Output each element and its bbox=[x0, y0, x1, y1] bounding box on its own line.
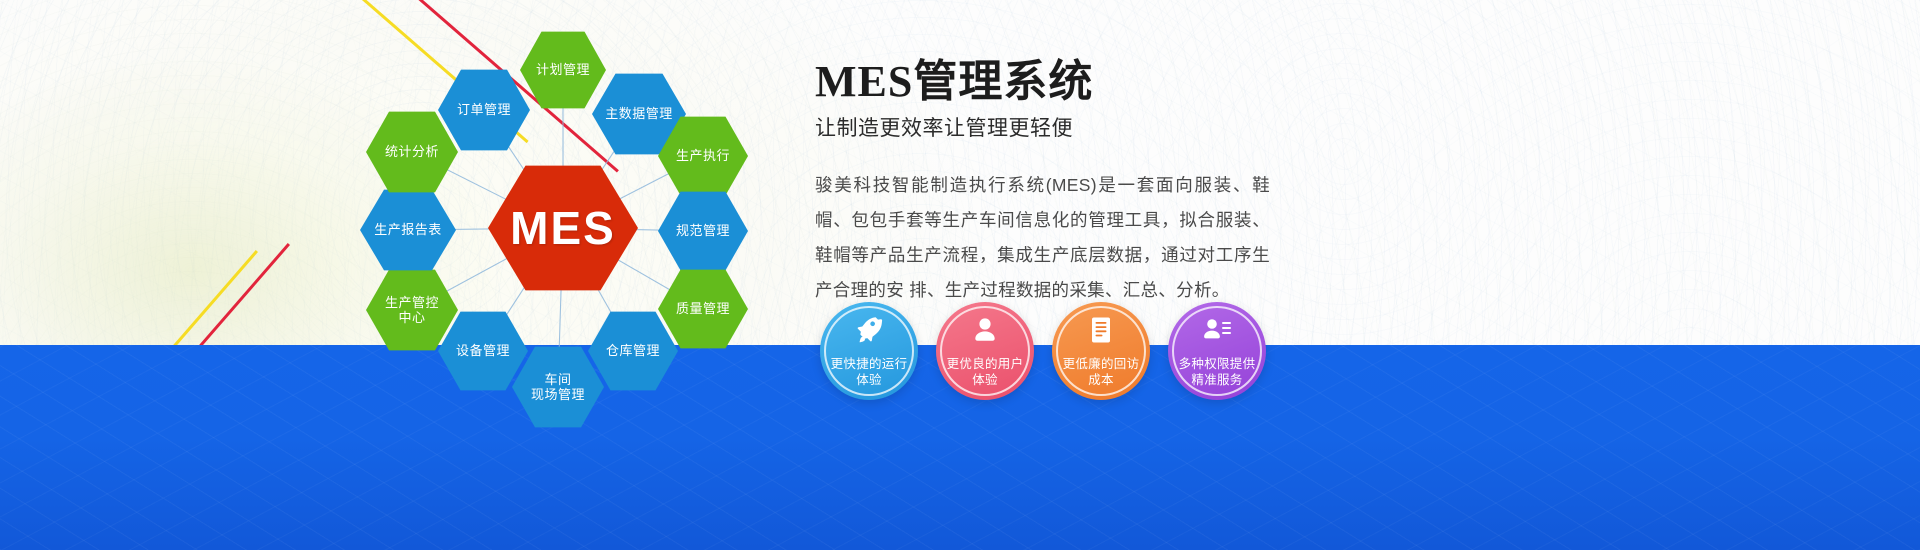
hex-center-label: MES bbox=[506, 201, 620, 255]
document-icon bbox=[1085, 314, 1117, 346]
feature-badges: 更快捷的运行体验更优良的用户体验更低廉的回访成本多种权限提供精准服务 bbox=[820, 302, 1266, 400]
mes-banner: MES 计划管理主数据管理生产执行规范管理质量管理仓库管理车间现场管理设备管理生… bbox=[0, 0, 1920, 550]
badge-label: 更快捷的运行体验 bbox=[820, 356, 918, 401]
badge-label: 更低廉的回访成本 bbox=[1052, 356, 1150, 401]
hexagon-diagram: MES 计划管理主数据管理生产执行规范管理质量管理仓库管理车间现场管理设备管理生… bbox=[330, 0, 800, 460]
page-description: 骏美科技智能制造执行系统(MES)是一套面向服装、鞋帽、包包手套等生产车间信息化… bbox=[815, 168, 1270, 308]
hex-node-label: 主数据管理 bbox=[601, 106, 677, 121]
badge-label: 更优良的用户体验 bbox=[936, 356, 1034, 401]
hex-node-label: 质量管理 bbox=[672, 301, 734, 316]
hex-node-label: 车间现场管理 bbox=[527, 372, 589, 403]
hex-node-label: 规范管理 bbox=[672, 223, 734, 238]
feature-badge[interactable]: 更快捷的运行体验 bbox=[820, 302, 918, 400]
badge-label: 多种权限提供精准服务 bbox=[1168, 356, 1266, 401]
hex-node-label: 仓库管理 bbox=[602, 343, 664, 358]
hex-node-label: 生产报告表 bbox=[370, 222, 446, 237]
hex-node-label: 设备管理 bbox=[452, 343, 514, 358]
hex-node-label: 统计分析 bbox=[381, 144, 443, 159]
user-icon bbox=[969, 314, 1001, 346]
feature-badge[interactable]: 更低廉的回访成本 bbox=[1052, 302, 1150, 400]
hex-node-label: 订单管理 bbox=[453, 102, 515, 117]
user-list-icon bbox=[1201, 314, 1233, 346]
page-subtitle: 让制造更效率让管理更轻便 bbox=[815, 112, 1375, 142]
content-panel: MES管理系统 让制造更效率让管理更轻便 骏美科技智能制造执行系统(MES)是一… bbox=[815, 58, 1375, 308]
hex-node-label: 计划管理 bbox=[532, 62, 594, 77]
page-title: MES管理系统 bbox=[815, 58, 1375, 106]
feature-badge[interactable]: 多种权限提供精准服务 bbox=[1168, 302, 1266, 400]
hex-node-label: 生产执行 bbox=[672, 148, 734, 163]
hex-node-label: 生产管控中心 bbox=[381, 295, 443, 326]
feature-badge[interactable]: 更优良的用户体验 bbox=[936, 302, 1034, 400]
rocket-icon bbox=[853, 314, 885, 346]
